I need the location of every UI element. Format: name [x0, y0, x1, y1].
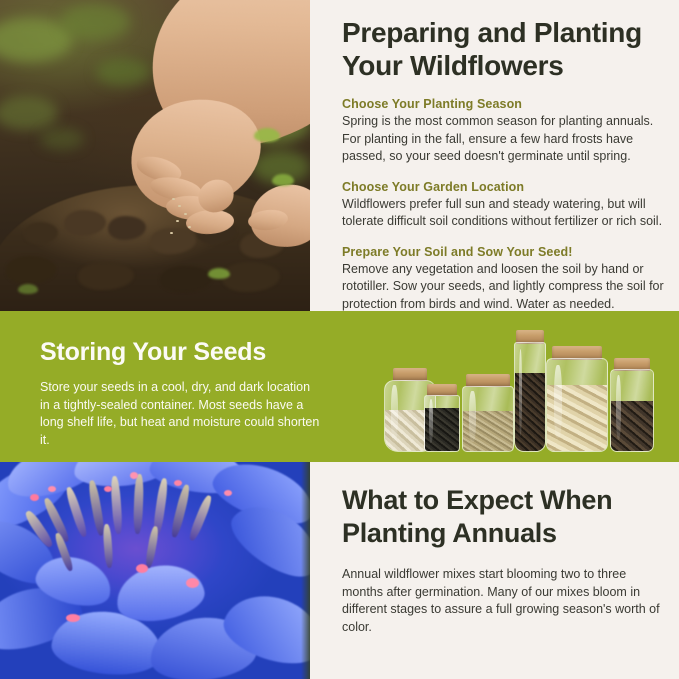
foliage-blur [60, 4, 130, 40]
seed-jars-image [378, 320, 672, 452]
foliage-blur [96, 58, 150, 86]
pink-accent [130, 472, 138, 479]
pink-accent [186, 578, 199, 588]
expect-body: Annual wildflower mixes start blooming t… [342, 566, 661, 636]
seed [176, 220, 179, 222]
jar-fine-tan-seed [462, 374, 514, 452]
expect-heading: What to Expect When Planting Annuals [342, 484, 661, 550]
jar-pumpkin-seeds [546, 346, 608, 452]
sprout [254, 128, 280, 142]
image-edge-shadow [301, 462, 310, 679]
expect-text-column: What to Expect When Planting Annuals Ann… [310, 462, 679, 679]
jar-glass [514, 342, 546, 452]
body-planting-season: Spring is the most common season for pla… [342, 113, 669, 166]
storing-heading: Storing Your Seeds [40, 337, 322, 367]
seed [184, 213, 187, 215]
sprout [208, 268, 230, 279]
pink-accent [48, 486, 56, 492]
planting-heading: Preparing and Planting Your Wildflowers [342, 16, 669, 82]
section-what-to-expect: What to Expect When Planting Annuals Ann… [0, 462, 679, 679]
jar-dark-seeds [424, 384, 460, 452]
jar-tall-black-seed [514, 330, 546, 452]
infographic-page: Preparing and Planting Your Wildflowers … [0, 0, 679, 679]
seed [170, 232, 173, 234]
seed [188, 226, 191, 228]
jar-glass [610, 369, 654, 452]
body-garden-location: Wildflowers prefer full sun and steady w… [342, 196, 669, 231]
jar-glass [424, 395, 460, 452]
pink-accent [136, 564, 148, 573]
hand-sowing-seeds-image [0, 0, 310, 311]
pink-accent [174, 480, 182, 486]
seed [172, 198, 175, 200]
subheading-garden-location: Choose Your Garden Location [342, 179, 669, 195]
jar-glass [462, 386, 514, 452]
jar-sunflower-seeds [610, 358, 654, 452]
glass-highlight [554, 365, 562, 439]
glass-highlight [469, 391, 476, 442]
subheading-prepare-soil: Prepare Your Soil and Sow Your Seed! [342, 244, 669, 260]
foliage-blur [40, 128, 84, 150]
pink-accent [224, 490, 232, 496]
sprout [18, 284, 38, 294]
pink-accent [104, 486, 112, 492]
storing-body: Store your seeds in a cool, dry, and dar… [40, 379, 322, 449]
seed [178, 205, 181, 207]
subheading-planting-season: Choose Your Planting Season [342, 96, 669, 112]
planting-text-column: Preparing and Planting Your Wildflowers … [310, 0, 679, 311]
pink-accent [66, 614, 80, 622]
storing-text-column: Storing Your Seeds Store your seeds in a… [0, 311, 340, 462]
sprout [272, 174, 294, 186]
pink-accent [30, 494, 39, 501]
section-preparing-and-planting: Preparing and Planting Your Wildflowers … [0, 0, 679, 311]
glass-highlight [391, 385, 398, 441]
cornflower-image [0, 462, 310, 679]
body-prepare-soil: Remove any vegetation and loosen the soi… [342, 261, 669, 314]
jar-glass [546, 358, 608, 452]
